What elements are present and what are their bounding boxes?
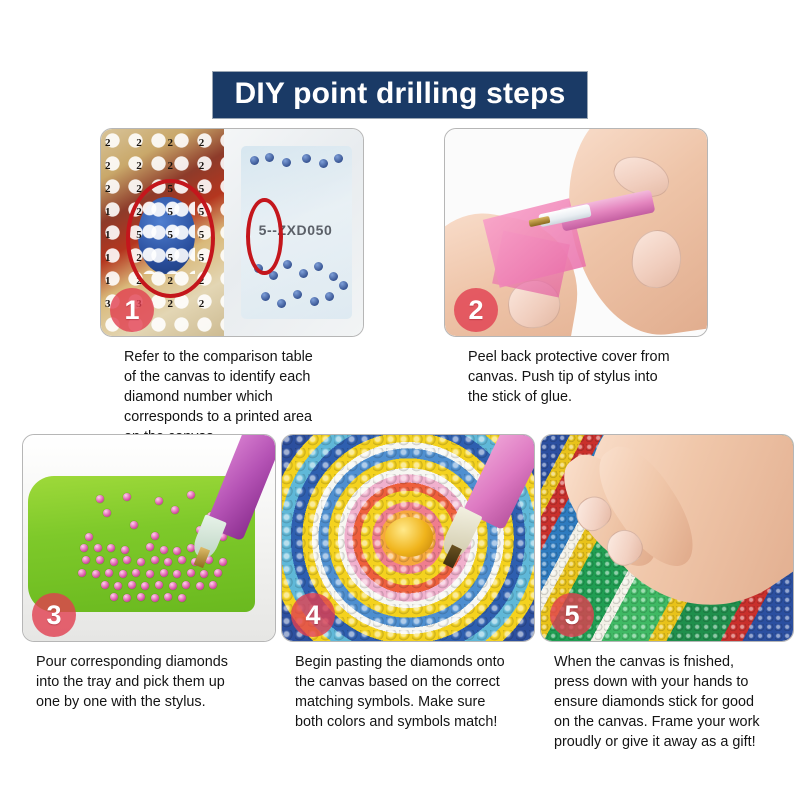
step-image-2: 2	[444, 128, 708, 337]
step-number-badge-3: 3	[32, 593, 76, 637]
steps-row-top: 2 2 2 2 2 2 2 2 2 2 2 2 2 2 5 5 5 2 1 2 …	[100, 128, 708, 447]
page-title-container: DIY point drilling steps	[0, 71, 800, 119]
red-highlight-circle	[126, 179, 215, 299]
step-card-1: 2 2 2 2 2 2 2 2 2 2 2 2 2 2 5 5 5 2 1 2 …	[100, 128, 364, 447]
step-number-badge-2: 2	[454, 288, 498, 332]
step-number-badge-4: 4	[291, 593, 335, 637]
step-image-1: 2 2 2 2 2 2 2 2 2 2 2 2 2 2 5 5 5 2 1 2 …	[100, 128, 364, 337]
step-number-badge-5: 5	[550, 593, 594, 637]
step-image-5: 5	[540, 434, 794, 642]
step-card-5: 5 When the canvas is fnished, press down…	[540, 434, 794, 752]
step-caption-3: Pour corresponding diamonds into the tra…	[22, 653, 276, 713]
step-caption-1: Refer to the comparison table of the can…	[100, 348, 364, 447]
step-card-2: 2 Peel back protective cover from canvas…	[444, 128, 708, 447]
step-caption-2: Peel back protective cover from canvas. …	[444, 348, 708, 408]
steps-row-bottom: 3 Pour corresponding diamonds into the t…	[22, 434, 794, 752]
diamond-bag: 5--ZXD050	[241, 146, 352, 320]
step-caption-4: Begin pasting the diamonds onto the canv…	[281, 653, 535, 733]
mandala-center-stone	[385, 517, 433, 556]
step-card-3: 3 Pour corresponding diamonds into the t…	[22, 434, 276, 752]
step-image-3: 3	[22, 434, 276, 642]
diamond-bag-area: 5--ZXD050	[224, 129, 363, 336]
step-number-badge-1: 1	[110, 288, 154, 332]
step-card-4: 4 Begin pasting the diamonds onto the ca…	[281, 434, 535, 752]
page-title: DIY point drilling steps	[212, 71, 589, 119]
step-image-4: 4	[281, 434, 535, 642]
red-highlight-oval	[246, 198, 283, 276]
step-caption-5: When the canvas is fnished, press down w…	[540, 653, 794, 752]
